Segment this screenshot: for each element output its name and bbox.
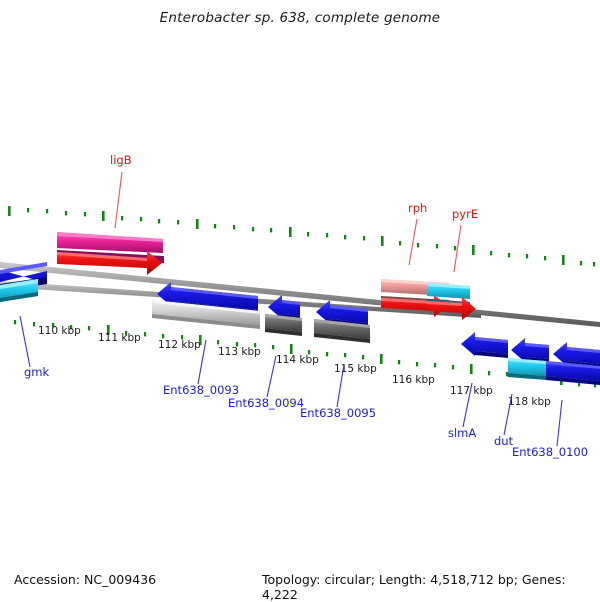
gene-glyph-dut[interactable]: [508, 338, 549, 380]
accession-text: Accession: NC_009436: [14, 572, 156, 587]
scale-label: 115 kbp: [334, 363, 377, 375]
scale-label: 118 kbp: [508, 396, 551, 408]
scale-label: 113 kbp: [218, 346, 261, 358]
scale-label: 112 kbp: [158, 339, 201, 351]
leader-line-rph: [409, 219, 417, 265]
gene-label-Ent638_0094: Ent638_0094: [228, 396, 304, 410]
gene-label-Ent638_0100: Ent638_0100: [512, 445, 588, 459]
genome-map-canvas[interactable]: 110 kbp 111 kbp 112 kbp 113 kbp 114 kbp …: [0, 0, 600, 600]
leader-line-Ent638_0100: [557, 400, 562, 446]
scale-label: 110 kbp: [38, 325, 81, 337]
gene-label-pyrE: pyrE: [452, 207, 478, 221]
gene-glyph-Ent638_0100[interactable]: [546, 342, 600, 385]
leader-line-ligB: [115, 172, 122, 228]
leader-line-Ent638_0094: [267, 356, 276, 397]
gene-label-Ent638_0095: Ent638_0095: [300, 406, 376, 420]
genome-stats-text: Topology: circular; Length: 4,518,712 bp…: [262, 572, 600, 602]
scale-label: 111 kbp: [98, 332, 141, 344]
gene-glyph-ligB[interactable]: [57, 232, 164, 275]
gene-label-rph: rph: [408, 201, 427, 215]
scale-label: 116 kbp: [392, 374, 435, 386]
gene-label-Ent638_0093: Ent638_0093: [163, 383, 239, 397]
gene-label-slmA: slmA: [448, 426, 476, 440]
genome-map-viewer: Enterobacter sp. 638, complete genome: [0, 0, 600, 600]
gene-label-gmk: gmk: [24, 365, 50, 379]
gene-glyph-slmA[interactable]: [461, 332, 508, 358]
gene-label-dut: dut: [494, 434, 514, 448]
scale-label: 114 kbp: [276, 354, 319, 366]
leader-line-gmk: [20, 316, 30, 367]
gene-label-ligB: ligB: [110, 153, 132, 167]
